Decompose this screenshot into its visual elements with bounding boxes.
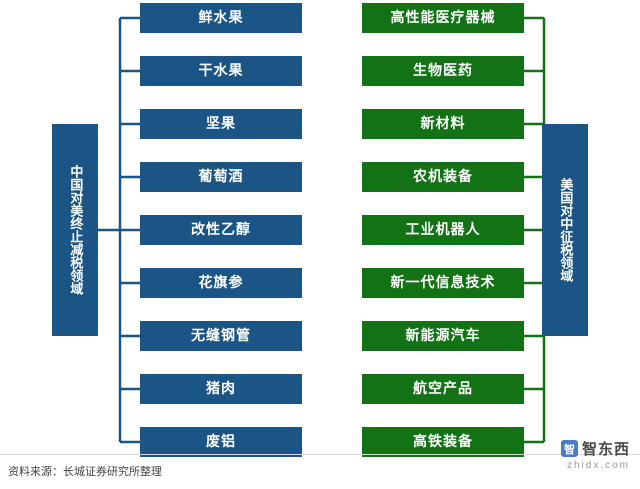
watermark-text: 智东西 — [582, 438, 630, 459]
left-item-box[interactable]: 鲜水果 — [140, 3, 302, 33]
right-item-box[interactable]: 新一代信息技术 — [362, 268, 524, 298]
left-item-box[interactable]: 无缝钢管 — [140, 321, 302, 351]
right-item-box[interactable]: 生物医药 — [362, 56, 524, 86]
right-item-box[interactable]: 工业机器人 — [362, 215, 524, 245]
right-item-box[interactable]: 高性能医疗器械 — [362, 3, 524, 33]
source-note: 资料来源：长城证券研究所整理 — [8, 463, 162, 479]
watermark-badge-icon: 智 — [561, 440, 578, 457]
right-item-box[interactable]: 农机装备 — [362, 162, 524, 192]
right-item-box[interactable]: 高铁装备 — [362, 427, 524, 457]
left-item-box[interactable]: 坚果 — [140, 109, 302, 139]
left-item-box[interactable]: 葡萄酒 — [140, 162, 302, 192]
left-spine-label: 中国对美终止减税领域 — [52, 124, 98, 336]
right-item-box[interactable]: 新能源汽车 — [362, 321, 524, 351]
right-item-box[interactable]: 航空产品 — [362, 374, 524, 404]
watermark-url: zhidx.com — [567, 460, 630, 471]
watermark: 智 智东西 zhidx.com — [561, 438, 630, 471]
left-item-box[interactable]: 花旗参 — [140, 268, 302, 298]
left-item-box[interactable]: 干水果 — [140, 56, 302, 86]
footer-divider — [0, 454, 640, 455]
left-item-box[interactable]: 猪肉 — [140, 374, 302, 404]
left-item-box[interactable]: 废铝 — [140, 427, 302, 457]
right-item-box[interactable]: 新材料 — [362, 109, 524, 139]
watermark-row: 智 智东西 — [561, 438, 630, 459]
right-spine-label: 美国对中征税领域 — [542, 124, 588, 336]
left-item-box[interactable]: 改性乙醇 — [140, 215, 302, 245]
diagram-canvas: 中国对美终止减税领域 美国对中征税领域 鲜水果 干水果 坚果 葡萄酒 改性乙醇 … — [0, 0, 640, 489]
